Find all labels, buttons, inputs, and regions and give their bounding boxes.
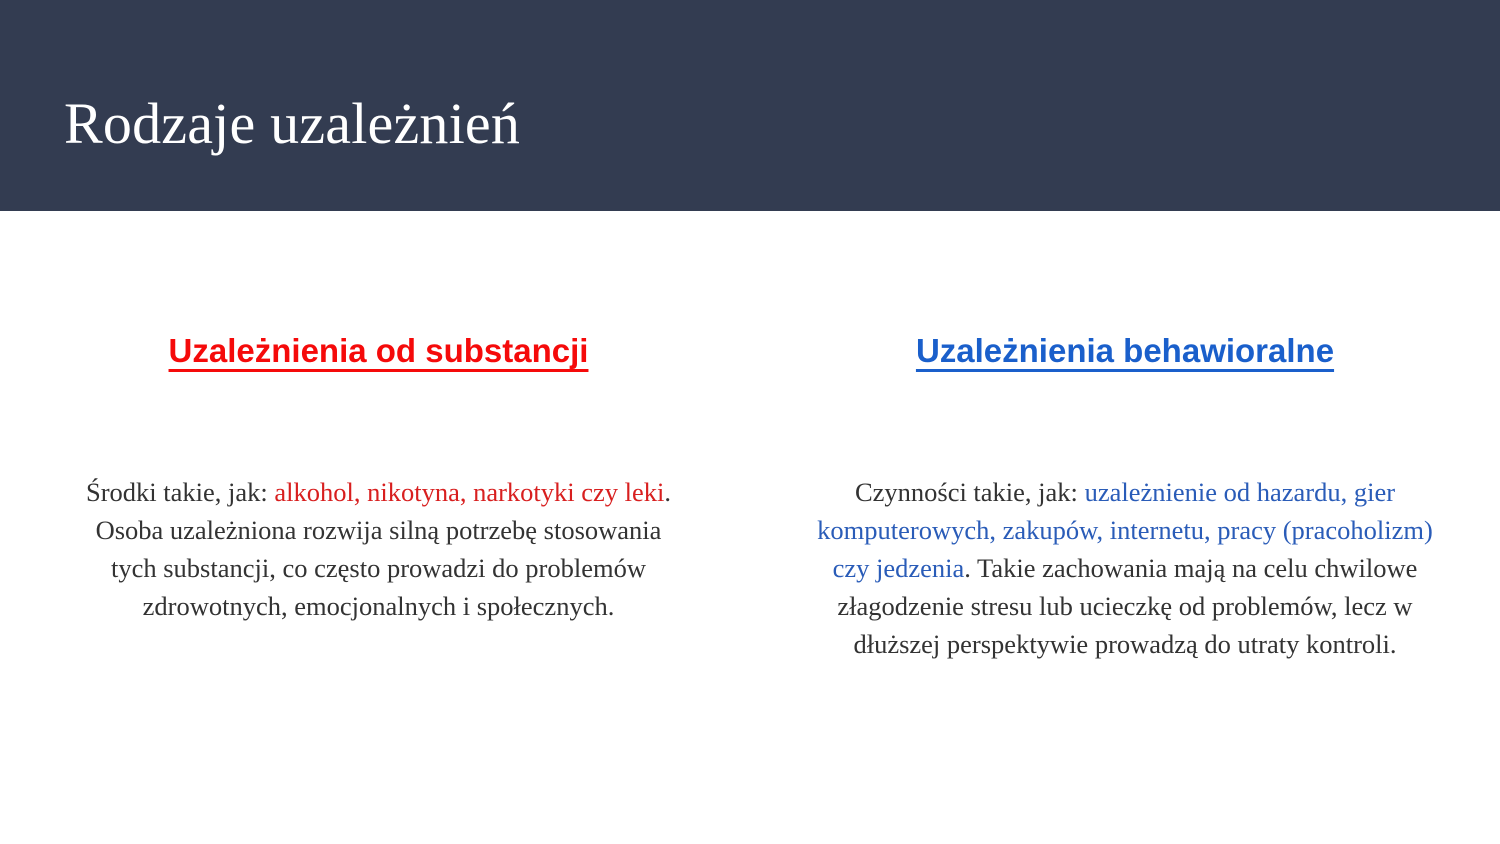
content-columns: Uzależnienia od substancji Środki takie,…: [0, 211, 1500, 844]
slide: Rodzaje uzależnień Uzależnienia od subst…: [0, 0, 1500, 844]
column-body-substance: Środki takie, jak: alkohol, nikotyna, na…: [72, 473, 685, 625]
column-substance-addictions: Uzależnienia od substancji Środki takie,…: [0, 211, 750, 625]
column-heading-behavioral: Uzależnienia behawioralne: [810, 331, 1440, 371]
column-heading-substance: Uzależnienia od substancji: [72, 331, 685, 371]
body-accent-substance: alkohol, nikotyna, narkotyki czy leki: [274, 477, 664, 507]
column-behavioral-addictions: Uzależnienia behawioralne Czynności taki…: [750, 211, 1500, 663]
page-title: Rodzaje uzależnień: [64, 88, 520, 160]
body-lead-behavioral: Czynności takie, jak:: [855, 477, 1085, 507]
body-lead-substance: Środki takie, jak:: [86, 477, 274, 507]
title-band: Rodzaje uzależnień: [0, 0, 1500, 211]
column-body-behavioral: Czynności takie, jak: uzależnienie od ha…: [810, 473, 1440, 663]
